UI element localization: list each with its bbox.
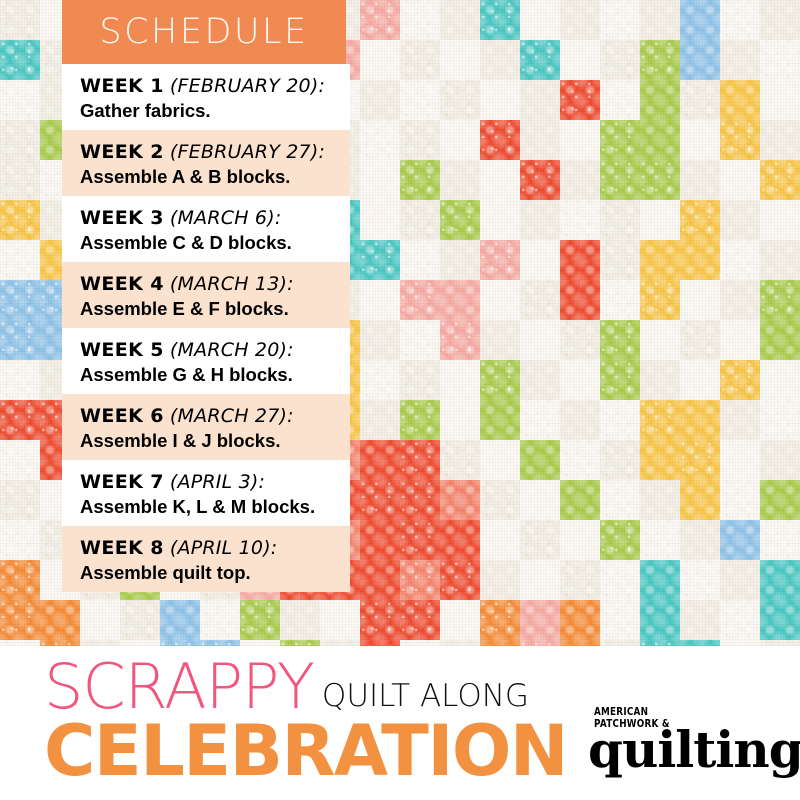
quilt-patch — [720, 120, 760, 160]
quilt-patch — [440, 320, 480, 360]
schedule-row: WEEK 1 (FEBRUARY 20):Gather fabrics. — [62, 64, 350, 130]
quilt-patch — [400, 360, 440, 400]
schedule-task-label: Assemble I & J blocks. — [80, 429, 350, 452]
quilt-patch — [760, 520, 800, 560]
schedule-row-heading: WEEK 7 (APRIL 3): — [80, 471, 350, 494]
quilt-patch — [400, 480, 440, 520]
quilt-patch — [640, 440, 680, 480]
quilt-patch — [640, 560, 680, 600]
schedule-date-label: (MARCH 20): — [170, 339, 294, 361]
quilt-patch — [400, 40, 440, 80]
schedule-date-label: (MARCH 13): — [170, 273, 294, 295]
quilt-patch — [160, 600, 200, 640]
quilt-patch — [360, 280, 400, 320]
quilt-patch — [480, 40, 520, 80]
quilt-patch — [520, 120, 560, 160]
quilt-patch — [400, 400, 440, 440]
quilt-patch — [0, 360, 40, 400]
title-block: SCRAPPY QUILT ALONG CELEBRATION — [44, 656, 584, 786]
quilt-patch — [720, 240, 760, 280]
quilt-patch — [0, 0, 40, 40]
quilt-patch — [680, 320, 720, 360]
quilt-patch — [400, 80, 440, 120]
schedule-row: WEEK 8 (APRIL 10):Assemble quilt top. — [62, 526, 350, 592]
schedule-row-heading: WEEK 2 (FEBRUARY 27): — [80, 141, 350, 164]
quilt-patch — [0, 120, 40, 160]
quilt-patch — [360, 320, 400, 360]
quilt-patch — [520, 80, 560, 120]
quilt-patch — [520, 40, 560, 80]
quilt-patch — [440, 240, 480, 280]
quilt-patch — [440, 160, 480, 200]
quilt-patch — [400, 160, 440, 200]
quilt-patch — [240, 600, 280, 640]
quilt-patch — [440, 600, 480, 640]
quilt-patch — [360, 520, 400, 560]
quilt-patch — [440, 200, 480, 240]
quilt-patch — [720, 0, 760, 40]
quilt-patch — [480, 400, 520, 440]
schedule-row-heading: WEEK 4 (MARCH 13): — [80, 273, 350, 296]
quilt-patch — [760, 360, 800, 400]
quilt-patch — [560, 360, 600, 400]
quilt-patch — [720, 280, 760, 320]
quilt-patch — [760, 240, 800, 280]
quilt-patch — [720, 480, 760, 520]
quilt-patch — [0, 520, 40, 560]
quilt-patch — [520, 560, 560, 600]
quilt-patch — [560, 280, 600, 320]
schedule-date-label: (FEBRUARY 20): — [170, 75, 325, 97]
quilt-patch — [440, 560, 480, 600]
schedule-header-title: SCHEDULE — [99, 15, 308, 50]
quilt-patch — [480, 0, 520, 40]
quilt-patch — [0, 440, 40, 480]
schedule-row: WEEK 3 (MARCH 6):Assemble C & D blocks. — [62, 196, 350, 262]
quilt-patch — [560, 40, 600, 80]
title-quilt-along: QUILT ALONG — [322, 681, 529, 712]
schedule-week-label: WEEK 4 — [80, 273, 164, 295]
quilt-patch — [680, 160, 720, 200]
quilt-patch — [0, 160, 40, 200]
quilt-patch — [520, 280, 560, 320]
quilt-patch — [600, 480, 640, 520]
schedule-week-label: WEEK 8 — [80, 537, 164, 559]
quilt-patch — [0, 320, 40, 360]
schedule-date-label: (MARCH 27): — [170, 405, 294, 427]
quilt-patch — [440, 480, 480, 520]
quilt-patch — [360, 240, 400, 280]
quilt-along-poster: SCHEDULE WEEK 1 (FEBRUARY 20):Gather fab… — [0, 0, 800, 800]
quilt-patch — [440, 360, 480, 400]
quilt-patch — [560, 160, 600, 200]
quilt-patch — [360, 200, 400, 240]
quilt-patch — [400, 440, 440, 480]
quilt-patch — [560, 440, 600, 480]
schedule-task-label: Gather fabrics. — [80, 99, 350, 122]
quilt-patch — [680, 120, 720, 160]
quilt-patch — [440, 80, 480, 120]
quilt-patch — [600, 200, 640, 240]
schedule-task-label: Assemble K, L & M blocks. — [80, 495, 350, 518]
schedule-task-label: Assemble E & F blocks. — [80, 297, 350, 320]
quilt-patch — [480, 240, 520, 280]
quilt-patch — [520, 480, 560, 520]
quilt-patch — [480, 520, 520, 560]
quilt-patch — [600, 240, 640, 280]
quilt-patch — [360, 400, 400, 440]
quilt-patch — [720, 160, 760, 200]
quilt-patch — [360, 600, 400, 640]
quilt-patch — [480, 600, 520, 640]
quilt-patch — [520, 0, 560, 40]
schedule-week-label: WEEK 6 — [80, 405, 164, 427]
quilt-patch — [560, 200, 600, 240]
title-bar: SCRAPPY QUILT ALONG CELEBRATION AMERICAN… — [0, 646, 800, 800]
quilt-patch — [360, 560, 400, 600]
quilt-patch — [720, 360, 760, 400]
quilt-patch — [520, 440, 560, 480]
quilt-patch — [640, 40, 680, 80]
quilt-patch — [760, 320, 800, 360]
quilt-patch — [320, 600, 360, 640]
quilt-patch — [80, 600, 120, 640]
quilt-patch — [680, 200, 720, 240]
quilt-patch — [640, 120, 680, 160]
quilt-patch — [760, 400, 800, 440]
schedule-row: WEEK 2 (FEBRUARY 27):Assemble A & B bloc… — [62, 130, 350, 196]
quilt-patch — [600, 440, 640, 480]
quilt-patch — [600, 600, 640, 640]
quilt-patch — [520, 160, 560, 200]
quilt-patch — [520, 200, 560, 240]
quilt-patch — [680, 480, 720, 520]
quilt-patch — [480, 360, 520, 400]
quilt-patch — [480, 80, 520, 120]
quilt-patch — [640, 400, 680, 440]
quilt-patch — [560, 560, 600, 600]
quilt-patch — [440, 120, 480, 160]
quilt-patch — [360, 160, 400, 200]
schedule-date-label: (APRIL 3): — [170, 471, 265, 493]
quilt-patch — [440, 40, 480, 80]
quilt-patch — [560, 480, 600, 520]
quilt-patch — [400, 0, 440, 40]
quilt-patch — [0, 40, 40, 80]
quilt-patch — [440, 280, 480, 320]
quilt-patch — [680, 520, 720, 560]
quilt-patch — [360, 120, 400, 160]
quilt-patch — [480, 560, 520, 600]
quilt-patch — [400, 280, 440, 320]
quilt-patch — [400, 520, 440, 560]
quilt-patch — [600, 400, 640, 440]
quilt-patch — [680, 0, 720, 40]
quilt-patch — [560, 120, 600, 160]
schedule-row: WEEK 6 (MARCH 27):Assemble I & J blocks. — [62, 394, 350, 460]
schedule-date-label: (APRIL 10): — [170, 537, 278, 559]
quilt-patch — [560, 520, 600, 560]
quilt-patch — [0, 560, 40, 600]
quilt-patch — [600, 520, 640, 560]
quilt-patch — [280, 600, 320, 640]
quilt-patch — [680, 80, 720, 120]
title-first-line: SCRAPPY QUILT ALONG — [44, 656, 584, 714]
quilt-patch — [360, 40, 400, 80]
quilt-patch — [600, 40, 640, 80]
schedule-row-heading: WEEK 3 (MARCH 6): — [80, 207, 350, 230]
quilt-patch — [0, 200, 40, 240]
logo-wordmark: quilting — [588, 727, 778, 773]
quilt-patch — [400, 320, 440, 360]
quilt-patch — [640, 480, 680, 520]
quilt-patch — [640, 160, 680, 200]
quilt-patch — [680, 40, 720, 80]
schedule-task-label: Assemble quilt top. — [80, 561, 350, 584]
quilt-patch — [0, 80, 40, 120]
quilt-patch — [760, 160, 800, 200]
quilt-patch — [0, 480, 40, 520]
quilt-patch — [360, 360, 400, 400]
quilt-patch — [640, 520, 680, 560]
schedule-row-heading: WEEK 6 (MARCH 27): — [80, 405, 350, 428]
quilt-patch — [640, 600, 680, 640]
quilt-patch — [640, 200, 680, 240]
quilt-patch — [480, 160, 520, 200]
quilt-patch — [440, 520, 480, 560]
quilt-patch — [760, 80, 800, 120]
quilt-patch — [760, 560, 800, 600]
logo-kicker-line2: PATCHWORK & — [594, 718, 741, 730]
schedule-task-label: Assemble C & D blocks. — [80, 231, 350, 254]
quilt-patch — [360, 80, 400, 120]
schedule-week-label: WEEK 1 — [80, 75, 164, 97]
quilt-patch — [760, 600, 800, 640]
quilt-patch — [40, 600, 80, 640]
schedule-row: WEEK 5 (MARCH 20):Assemble G & H blocks. — [62, 328, 350, 394]
quilt-patch — [720, 80, 760, 120]
quilt-patch — [360, 480, 400, 520]
quilt-patch — [680, 280, 720, 320]
quilt-patch — [760, 200, 800, 240]
schedule-row-heading: WEEK 5 (MARCH 20): — [80, 339, 350, 362]
quilt-patch — [680, 400, 720, 440]
quilt-patch — [680, 240, 720, 280]
quilt-patch — [600, 360, 640, 400]
quilt-patch — [480, 200, 520, 240]
quilt-patch — [560, 320, 600, 360]
quilt-patch — [600, 80, 640, 120]
title-scrappy: SCRAPPY — [44, 656, 314, 718]
quilt-patch — [400, 120, 440, 160]
quilt-patch — [440, 440, 480, 480]
quilt-patch — [400, 240, 440, 280]
quilt-patch — [560, 0, 600, 40]
schedule-row: WEEK 4 (MARCH 13):Assemble E & F blocks. — [62, 262, 350, 328]
schedule-task-label: Assemble G & H blocks. — [80, 363, 350, 386]
quilt-patch — [400, 560, 440, 600]
quilt-patch — [680, 440, 720, 480]
quilt-patch — [560, 600, 600, 640]
quilt-patch — [520, 360, 560, 400]
quilt-patch — [600, 120, 640, 160]
quilt-patch — [520, 320, 560, 360]
quilt-patch — [720, 600, 760, 640]
quilt-patch — [720, 200, 760, 240]
quilt-patch — [440, 400, 480, 440]
quilt-patch — [560, 240, 600, 280]
quilt-patch — [680, 600, 720, 640]
american-patchwork-quilting-logo: AMERICAN PATCHWORK & quilting — [588, 706, 778, 773]
quilt-patch — [600, 560, 640, 600]
quilt-patch — [0, 400, 40, 440]
quilt-patch — [600, 0, 640, 40]
quilt-patch — [400, 600, 440, 640]
quilt-patch — [360, 440, 400, 480]
quilt-patch — [720, 400, 760, 440]
quilt-patch — [640, 320, 680, 360]
quilt-patch — [0, 280, 40, 320]
quilt-patch — [600, 320, 640, 360]
quilt-patch — [720, 520, 760, 560]
quilt-patch — [200, 600, 240, 640]
quilt-patch — [760, 40, 800, 80]
quilt-patch — [640, 80, 680, 120]
schedule-header: SCHEDULE — [62, 0, 346, 64]
quilt-patch — [760, 120, 800, 160]
quilt-patch — [640, 0, 680, 40]
schedule-date-label: (MARCH 6): — [170, 207, 282, 229]
quilt-patch — [720, 320, 760, 360]
quilt-patch — [480, 120, 520, 160]
schedule-task-label: Assemble A & B blocks. — [80, 165, 350, 188]
quilt-patch — [480, 280, 520, 320]
quilt-patch — [480, 320, 520, 360]
quilt-patch — [560, 80, 600, 120]
quilt-patch — [560, 400, 600, 440]
quilt-patch — [640, 240, 680, 280]
quilt-patch — [0, 240, 40, 280]
schedule-panel: SCHEDULE WEEK 1 (FEBRUARY 20):Gather fab… — [62, 0, 350, 592]
quilt-patch — [640, 360, 680, 400]
quilt-patch — [760, 480, 800, 520]
schedule-week-label: WEEK 7 — [80, 471, 164, 493]
quilt-patch — [680, 560, 720, 600]
quilt-patch — [360, 0, 400, 40]
quilt-patch — [520, 600, 560, 640]
schedule-row-heading: WEEK 1 (FEBRUARY 20): — [80, 75, 350, 98]
quilt-patch — [440, 0, 480, 40]
quilt-patch — [600, 160, 640, 200]
quilt-patch — [520, 400, 560, 440]
title-celebration: CELEBRATION — [44, 716, 584, 786]
schedule-week-label: WEEK 3 — [80, 207, 164, 229]
quilt-patch — [720, 40, 760, 80]
schedule-week-label: WEEK 5 — [80, 339, 164, 361]
schedule-week-label: WEEK 2 — [80, 141, 164, 163]
quilt-patch — [760, 440, 800, 480]
quilt-patch — [760, 280, 800, 320]
quilt-patch — [680, 360, 720, 400]
quilt-patch — [480, 480, 520, 520]
quilt-patch — [400, 200, 440, 240]
schedule-row: WEEK 7 (APRIL 3):Assemble K, L & M block… — [62, 460, 350, 526]
quilt-patch — [640, 280, 680, 320]
quilt-patch — [520, 520, 560, 560]
quilt-patch — [120, 600, 160, 640]
quilt-patch — [720, 560, 760, 600]
quilt-patch — [520, 240, 560, 280]
quilt-patch — [760, 0, 800, 40]
quilt-patch — [600, 280, 640, 320]
schedule-date-label: (FEBRUARY 27): — [170, 141, 325, 163]
quilt-patch — [480, 440, 520, 480]
quilt-patch — [0, 600, 40, 640]
schedule-row-heading: WEEK 8 (APRIL 10): — [80, 537, 350, 560]
schedule-row-list: WEEK 1 (FEBRUARY 20):Gather fabrics.WEEK… — [62, 64, 350, 592]
quilt-patch — [720, 440, 760, 480]
